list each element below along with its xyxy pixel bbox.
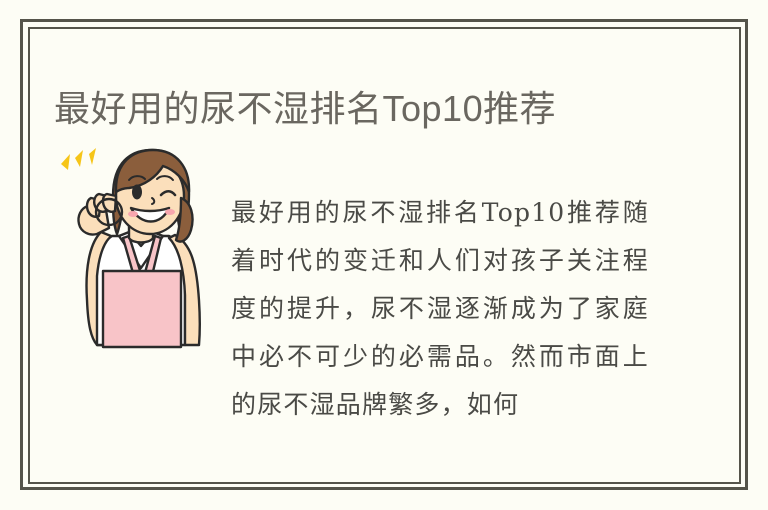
- article-card: 最好用的尿不湿排名Top10推荐: [0, 0, 768, 510]
- page-title: 最好用的尿不湿排名Top10推荐: [54, 84, 714, 134]
- sparkle-icon: [61, 148, 96, 170]
- article-body-text: 最好用的尿不湿排名Top10推荐随着时代的变迁和人们对孩子关注程度的提升，尿不湿…: [231, 189, 649, 429]
- article-illustration: [57, 140, 207, 355]
